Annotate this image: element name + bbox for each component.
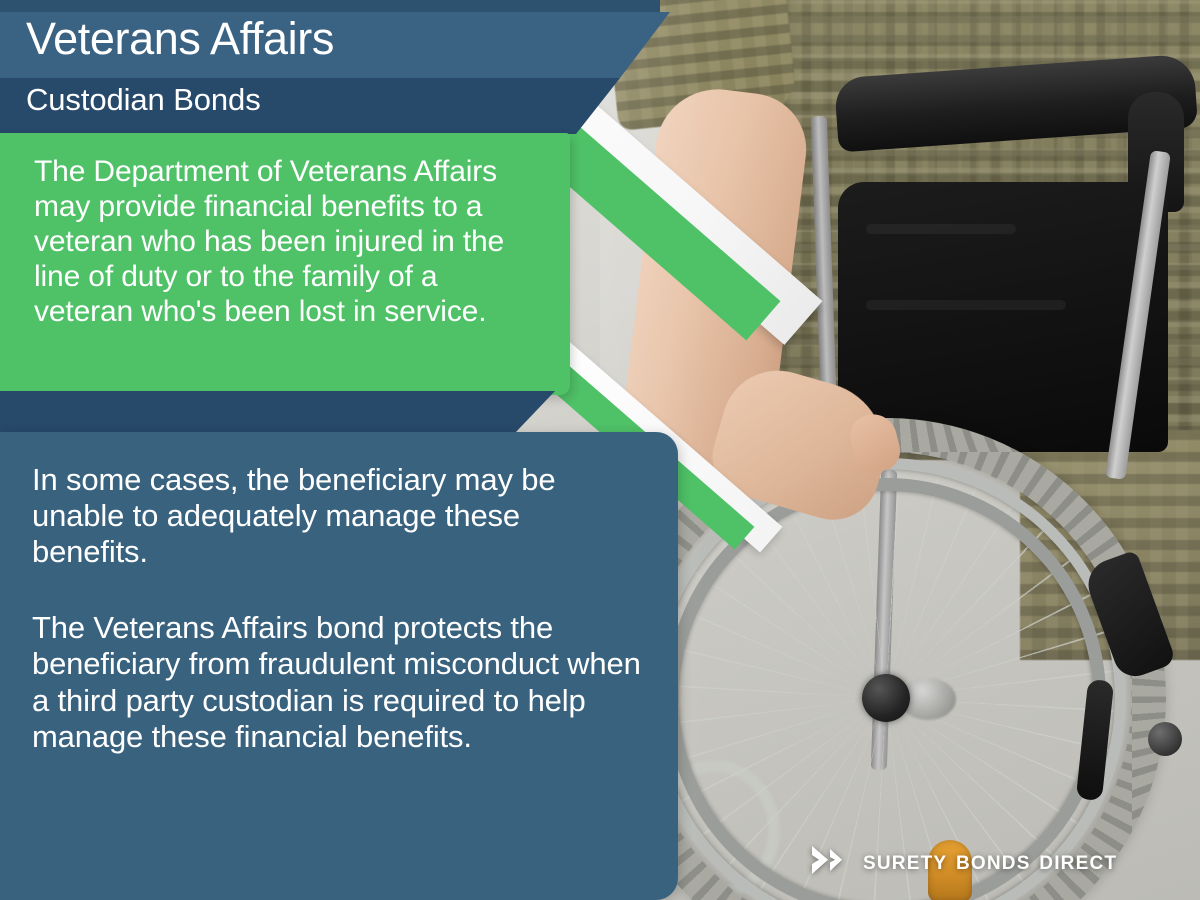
blue-body-card: In some cases, the beneficiary may be un… [0,432,678,900]
navy-band-under-green [0,391,555,433]
page-subtitle: Custodian Bonds [26,84,261,115]
green-callout-card: The Department of Veterans Affairs may p… [0,133,570,395]
brand-logo[interactable]: Surety Bonds Direct [812,845,1117,875]
double-chevron-right-icon [812,845,850,875]
wheelchair-brake-knob [1148,722,1182,756]
page-title: Veterans Affairs [26,16,334,61]
brand-logo-text: Surety Bonds Direct [863,847,1117,874]
blue-body-paragraph-1: In some cases, the beneficiary may be un… [32,462,644,570]
wheel-hub [862,674,910,722]
header-top-strip [0,0,660,12]
infographic-canvas: Veterans Affairs Custodian Bonds The Dep… [0,0,1200,900]
blue-body-paragraph-2: The Veterans Affairs bond protects the b… [32,610,644,754]
green-callout-text: The Department of Veterans Affairs may p… [0,133,570,330]
